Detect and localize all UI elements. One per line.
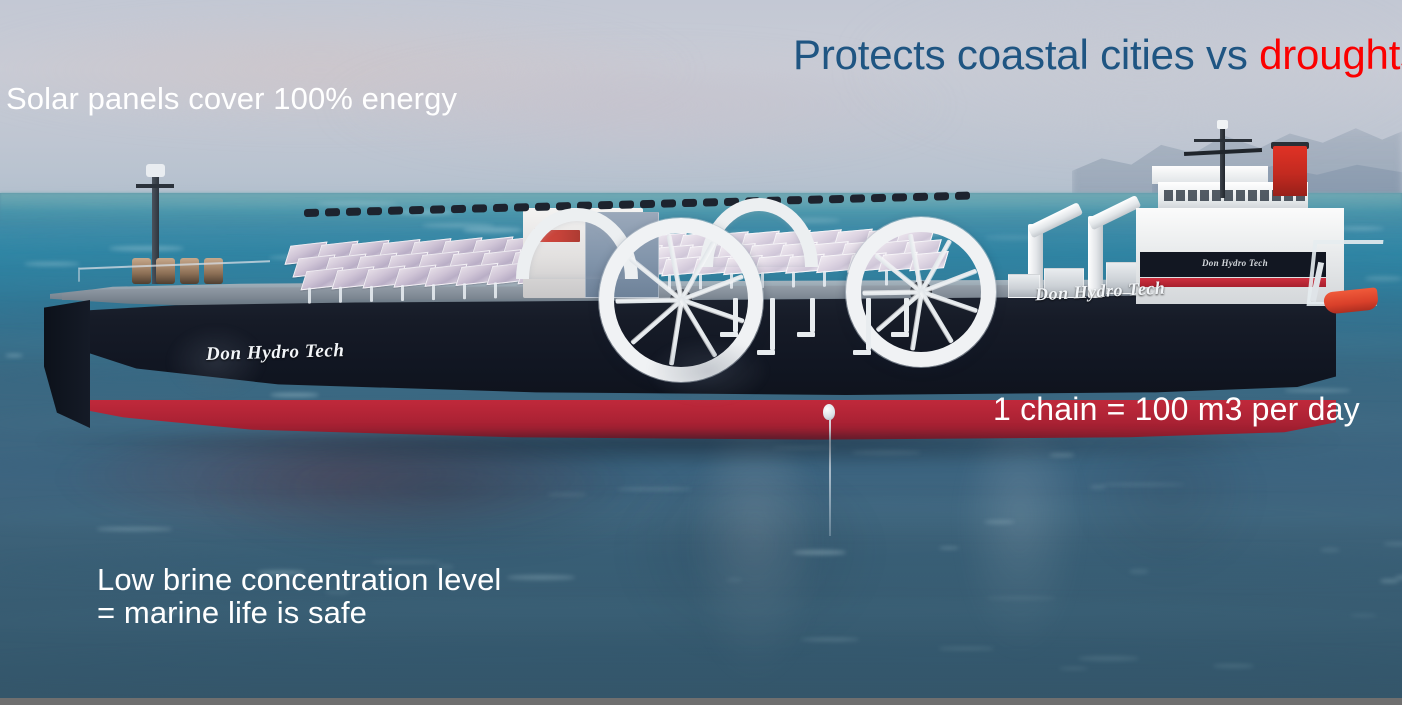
slide-canvas: Don Hydro Tech Don Hydro Tech Don Hydro … (0, 0, 1402, 705)
headline-prefix: Protects coastal cities vs (793, 31, 1259, 78)
superstructure-ship-name: Don Hydro Tech (1202, 258, 1268, 268)
bridge-window (1236, 190, 1245, 201)
headline-accent: droughts (1259, 31, 1402, 78)
mast-light (1217, 120, 1228, 129)
crane-jib (1027, 202, 1083, 238)
hull-name-forward: Don Hydro Tech (206, 340, 345, 366)
bridge-window (1224, 190, 1233, 201)
crane-jib (1087, 195, 1141, 230)
superstructure-red-band (1140, 278, 1326, 287)
sea-glint (5, 354, 23, 357)
aft-mast-yard (1194, 139, 1252, 142)
caption-chain-output: 1 chain = 100 m3 per day (993, 393, 1360, 427)
bridge-window (1248, 190, 1257, 201)
caption-brine: Low brine concentration level= marine li… (97, 564, 501, 630)
headline: Protects coastal cities vs droughts (793, 33, 1402, 78)
funnel (1273, 146, 1307, 196)
caption-solar: Solar panels cover 100% energy (6, 83, 457, 116)
superstructure-black-band: Don Hydro Tech (1140, 252, 1326, 277)
bridge-window (1188, 190, 1197, 201)
hull-streak (648, 338, 768, 404)
bridge-window (1260, 190, 1269, 201)
waterline-shadow (38, 434, 1338, 468)
aft-mast (1220, 126, 1225, 198)
caption-brine-line1: Low brine concentration level (97, 564, 501, 597)
desalination-chain (829, 408, 831, 536)
bridge-window (1176, 190, 1185, 201)
bottom-bar (0, 698, 1402, 705)
chain-float (823, 404, 835, 420)
caption-brine-line2: = marine life is safe (97, 597, 501, 630)
bridge-window (1200, 190, 1209, 201)
bridge-window (1164, 190, 1173, 201)
